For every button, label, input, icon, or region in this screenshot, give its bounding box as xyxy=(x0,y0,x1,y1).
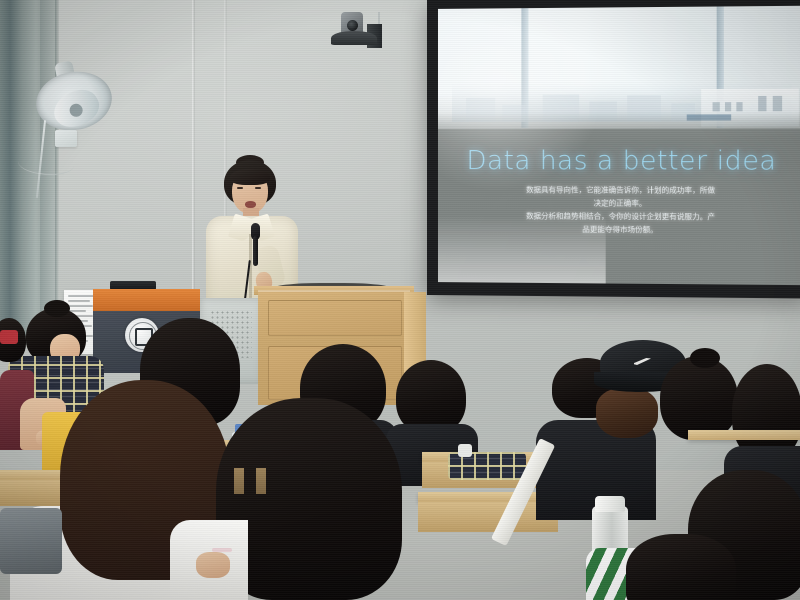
camera-base xyxy=(331,31,377,45)
slide-body-line: 数据具有导向性，它能准确告诉你，计划的成功率，所做 xyxy=(470,184,772,198)
podium-panel-upper xyxy=(268,300,402,336)
chair-back xyxy=(256,468,266,494)
power-socket-icon xyxy=(55,130,77,147)
hair-accessory xyxy=(0,330,18,344)
handheld-item xyxy=(212,548,232,552)
projection-screen: Data has a better idea 数据具有导向性，它能准确告诉你，计… xyxy=(427,0,800,299)
presenter-fringe xyxy=(230,169,270,185)
audience-head xyxy=(660,356,738,440)
ptz-camera-icon xyxy=(331,12,383,54)
microphone-handle xyxy=(253,236,258,266)
audience-hair xyxy=(596,388,658,438)
screen-hotspot xyxy=(438,217,605,284)
audience-hand xyxy=(196,552,230,578)
lecture-hall-photo: Data has a better idea 数据具有导向性，它能准确告诉你，计… xyxy=(0,0,800,600)
desk-item xyxy=(458,444,472,457)
audience-head xyxy=(396,360,466,434)
wall-fan-icon xyxy=(36,62,116,130)
presenter-mouth xyxy=(245,201,256,208)
camera-lens xyxy=(347,20,358,31)
audience-hair-bun xyxy=(44,300,70,317)
slide-content: Data has a better idea 数据具有导向性，它能准确告诉你，计… xyxy=(438,6,800,285)
slide-body-line: 决定的正确率。 xyxy=(470,197,772,211)
audience-hair-bun xyxy=(690,348,720,368)
desk-surface xyxy=(688,430,800,440)
slide-title: Data has a better idea xyxy=(438,145,800,176)
projected-slide: Data has a better idea 数据具有导向性，它能准确告诉你，计… xyxy=(438,6,800,285)
gray-bag xyxy=(0,508,62,574)
thermos-cap xyxy=(595,496,625,512)
chair-back xyxy=(234,468,244,494)
audience-head xyxy=(626,534,736,600)
av-console-top xyxy=(93,289,200,311)
